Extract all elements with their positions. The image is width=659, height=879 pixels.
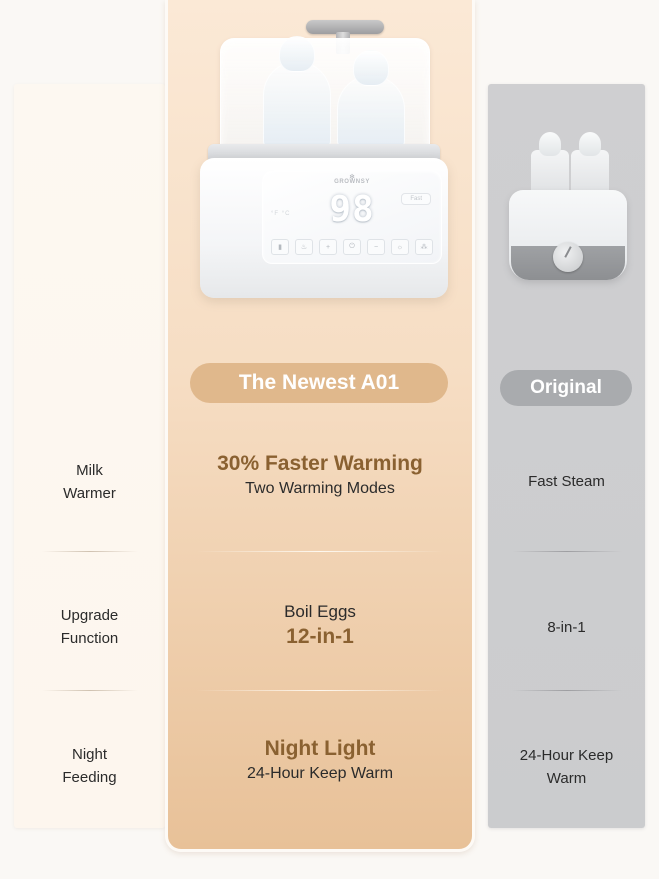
original-value-line2: Warm [488,767,645,790]
transparent-cover [220,38,430,152]
new-subtext-row-2: Boil Eggs [165,600,475,623]
new-highlight-row-1: 30% Faster Warming [165,450,475,477]
night-light-button[interactable]: ☼ [391,239,409,255]
row-divider [42,551,138,552]
plus-button[interactable]: + [319,239,337,255]
feature-label-line2: Warmer [14,482,165,505]
new-highlight-row-3: Night Light [165,735,475,762]
control-panel: ❄ GROWNSY °F °C 98 Fast ▮ ♨ + ⏻ − ☼ ⁂ [262,170,442,264]
new-subtext-row-1: Two Warming Modes [165,477,475,501]
touch-button-row: ▮ ♨ + ⏻ − ☼ ⁂ [271,239,433,255]
feature-label-row-1: Milk Warmer [14,459,165,505]
bottle-button[interactable]: ▮ [271,239,289,255]
bottle-nipple [279,36,315,72]
feature-label-line1: Night [14,743,165,766]
new-highlight-row-2: 12-in-1 [165,623,475,650]
feature-label-line2: Function [14,627,165,650]
product-image-new-a01: ❄ GROWNSY °F °C 98 Fast ▮ ♨ + ⏻ − ☼ ⁂ [188,8,456,308]
new-value-row-3: Night Light 24-Hour Keep Warm [165,735,475,786]
night-light-glow [226,262,422,292]
feature-label-line1: Upgrade [14,604,165,627]
row-divider [196,690,444,691]
original-value-row-3: 24-Hour Keep Warm [488,744,645,790]
original-value-line1: 24-Hour Keep [488,744,645,767]
dial-knob[interactable] [553,242,583,272]
warmer-body: ❄ GROWNSY °F °C 98 Fast ▮ ♨ + ⏻ − ☼ ⁂ [200,158,448,298]
baby-bottle [263,61,331,149]
bottle-nipple [579,132,601,156]
feature-label-row-3: Night Feeding [14,743,165,789]
new-subtext-row-3: 24-Hour Keep Warm [165,762,475,786]
row-divider [42,690,138,691]
original-value-row-1: Fast Steam [488,470,645,493]
feature-label-line2: Feeding [14,766,165,789]
sterilize-button[interactable]: ⁂ [415,239,433,255]
row-divider [512,551,622,552]
product-image-original [505,150,631,310]
warmer-body [509,190,627,280]
original-value-row-2: 8-in-1 [488,616,645,639]
row-divider [512,690,622,691]
badge-original-product: Original [500,370,632,406]
baby-bottle [337,75,405,149]
bottle-nipple [539,132,561,156]
feature-column [14,84,165,828]
new-value-row-1: 30% Faster Warming Two Warming Modes [165,450,475,501]
power-button[interactable]: ⏻ [343,239,361,255]
bottle-nipple [353,50,389,86]
brand-logo-text: GROWNSY [263,179,441,185]
feature-label-line1: Milk [14,459,165,482]
badge-new-product: The Newest A01 [190,363,448,403]
feature-label-row-2: Upgrade Function [14,604,165,650]
row-divider [196,551,444,552]
minus-button[interactable]: − [367,239,385,255]
food-button[interactable]: ♨ [295,239,313,255]
comparison-infographic: ❄ GROWNSY °F °C 98 Fast ▮ ♨ + ⏻ − ☼ ⁂ [0,0,659,879]
fast-mode-label: Fast [401,193,431,205]
new-value-row-2: Boil Eggs 12-in-1 [165,600,475,650]
